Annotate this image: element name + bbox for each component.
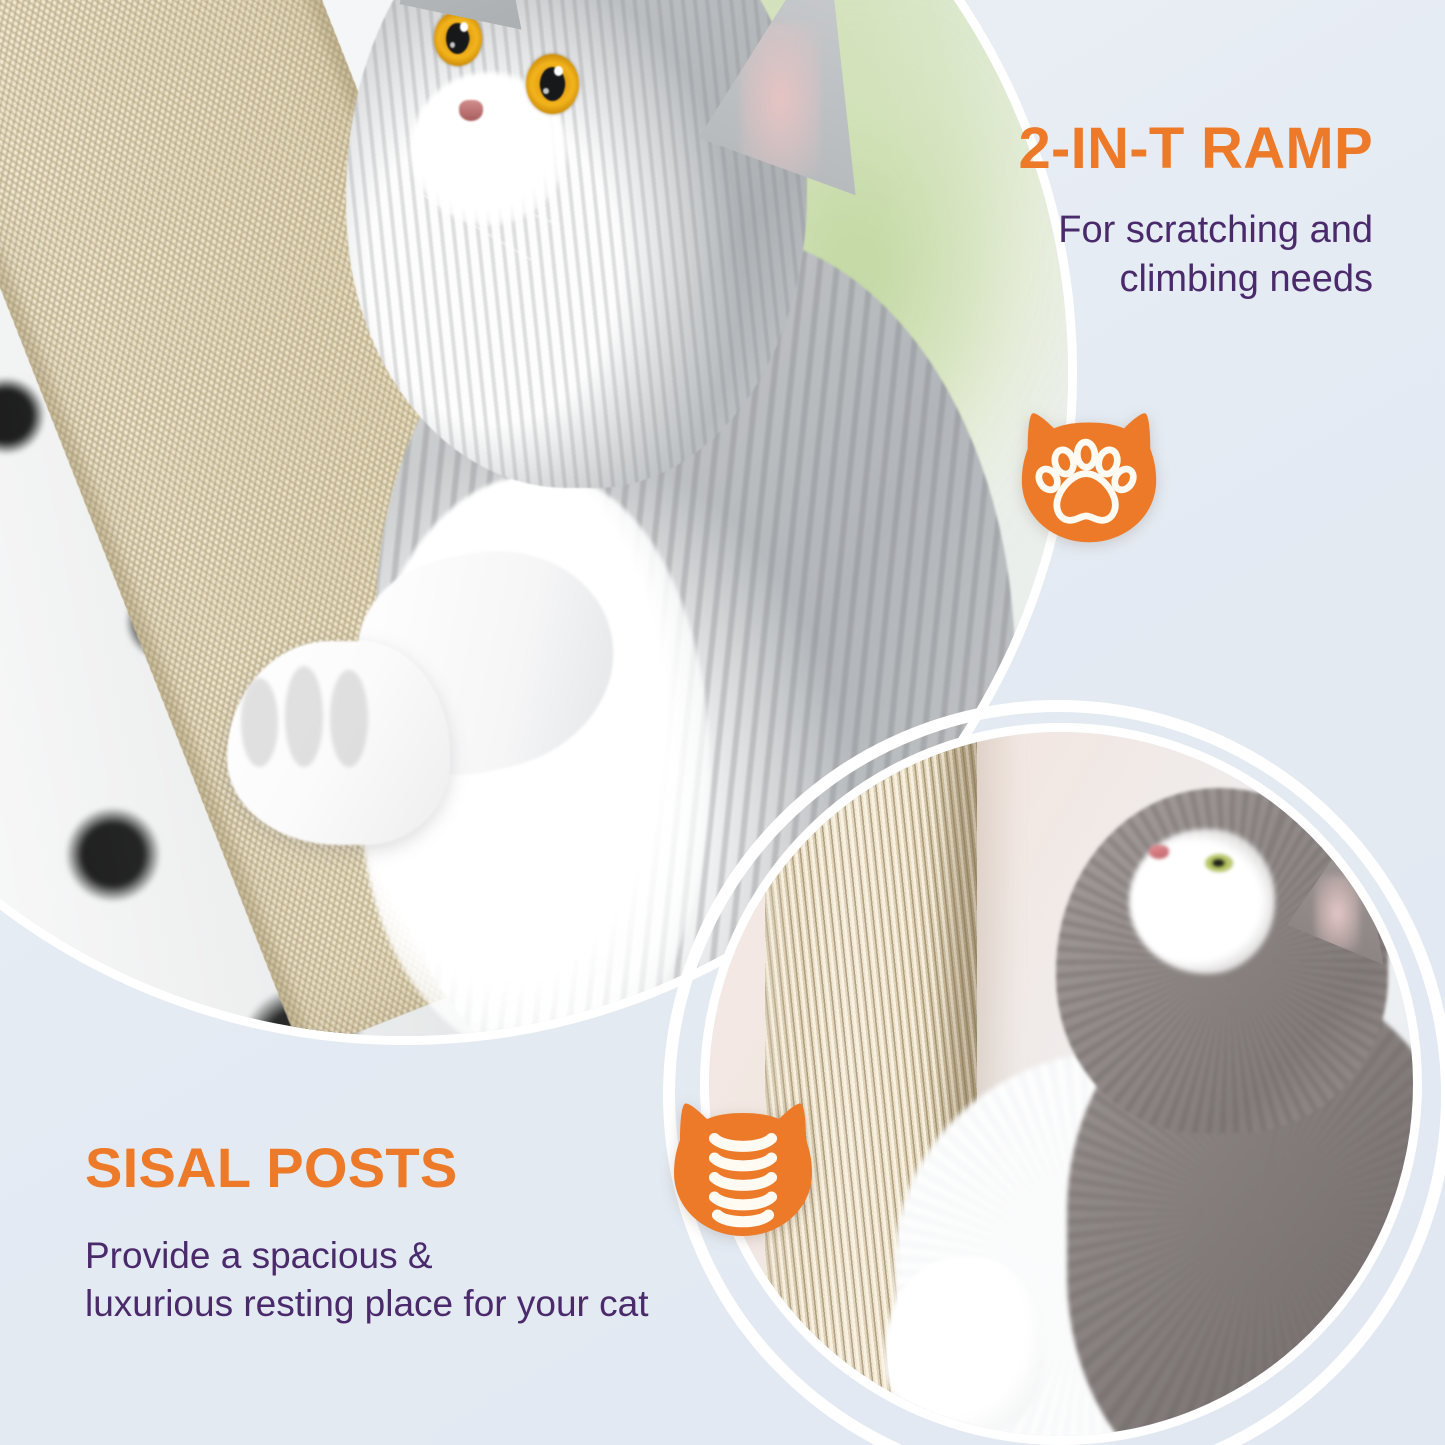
ramp-subtitle: For scratching and climbing needs (1018, 206, 1373, 305)
sisal-subtitle-line2: luxurious resting place for your cat (85, 1280, 649, 1328)
feature-text-ramp: 2-IN-T RAMP For scratching and climbing … (1018, 120, 1373, 305)
sisal-subtitle: Provide a spacious & luxurious resting p… (85, 1232, 649, 1328)
cat-paw (227, 641, 450, 845)
cat-head (1056, 788, 1388, 1133)
feature-text-sisal: SISAL POSTS Provide a spacious & luxurio… (85, 1140, 649, 1328)
sisal-headline: SISAL POSTS (85, 1140, 649, 1196)
cat-eye (1205, 854, 1233, 873)
cat-nose (459, 100, 483, 121)
fluffy-grey-white-cat (906, 774, 1413, 1436)
cat-paw (885, 1257, 1046, 1436)
sisal-rope-coils-icon (668, 1095, 818, 1245)
ramp-subtitle-line1: For scratching and (1018, 206, 1373, 255)
paw-print-icon (1016, 405, 1162, 551)
product-feature-banner: 2-IN-T RAMP For scratching and climbing … (0, 0, 1445, 1445)
ramp-subtitle-line2: climbing needs (1018, 255, 1373, 304)
ramp-headline: 2-IN-T RAMP (1018, 120, 1373, 178)
cat-eye-right (526, 54, 579, 114)
feature-photo-sisal-post (700, 723, 1422, 1445)
cat-nose (1149, 845, 1170, 859)
sisal-subtitle-line1: Provide a spacious & (85, 1232, 649, 1280)
